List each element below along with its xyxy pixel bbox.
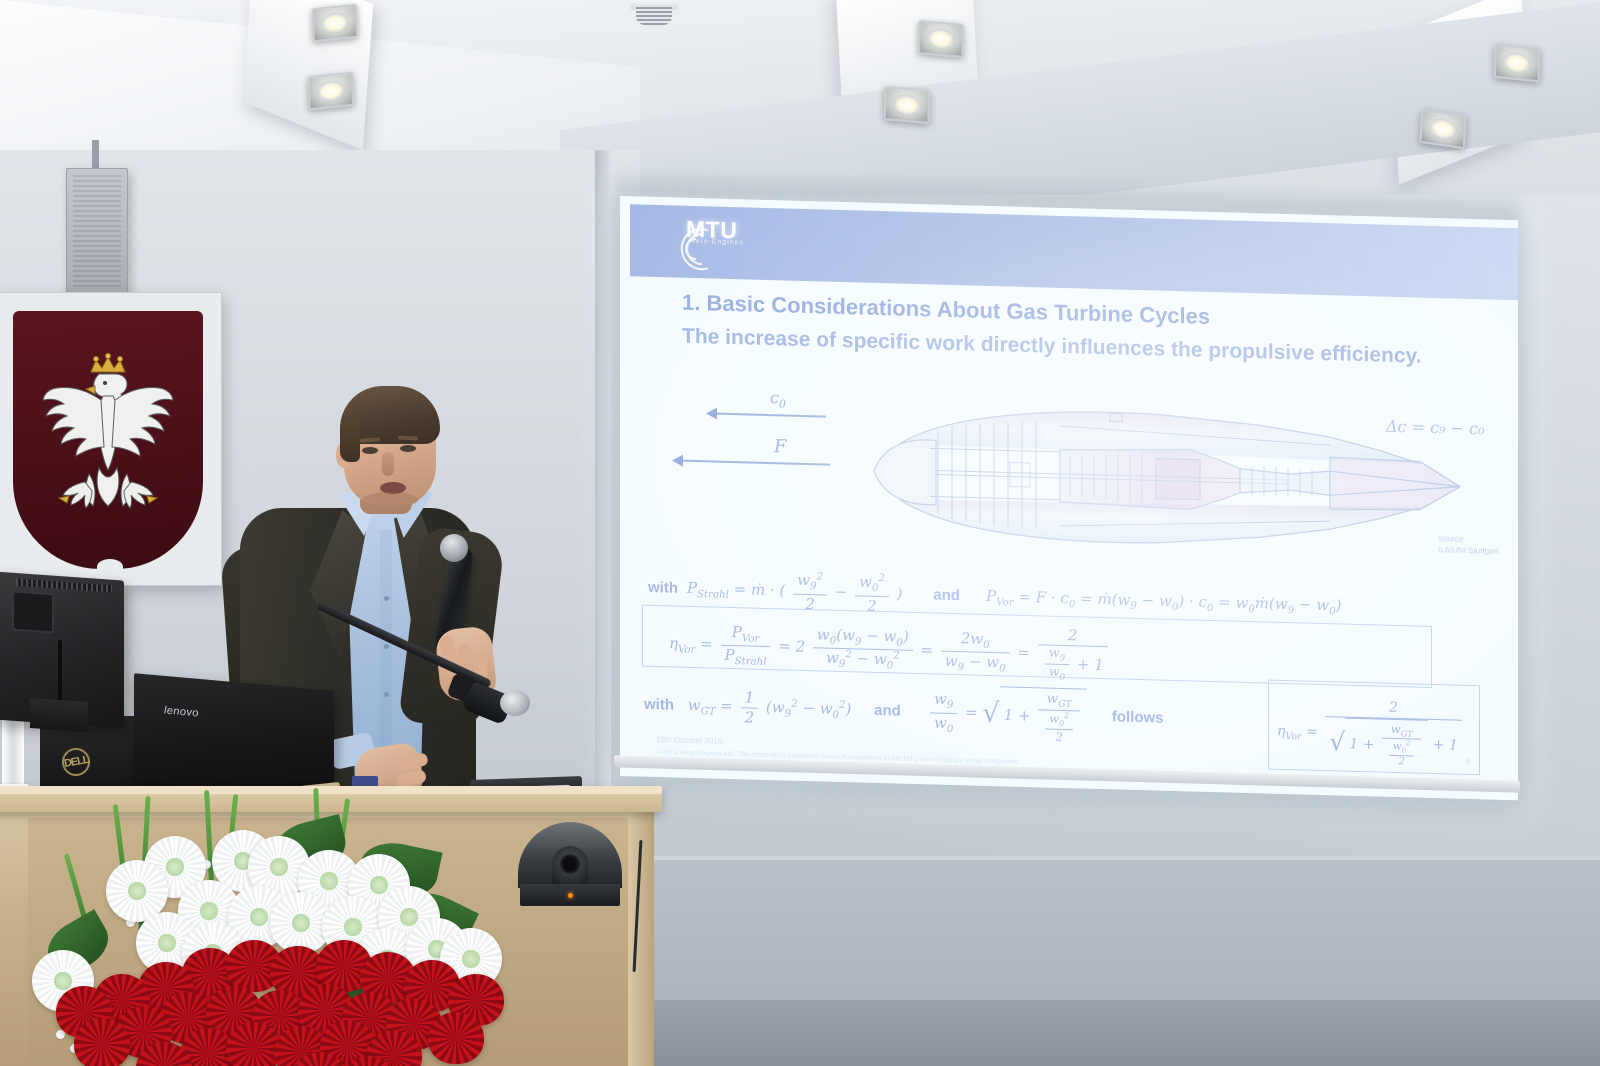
- microphone-windscreen-icon: [500, 690, 530, 716]
- wall-speaker-icon: [66, 168, 128, 296]
- ceiling-spotlight-icon: [884, 86, 930, 124]
- red-carnation: [226, 1022, 282, 1066]
- arrow-shaft: [714, 413, 826, 418]
- ceiling-spotlight-icon: [918, 20, 964, 58]
- arrow-head-icon: [706, 407, 717, 419]
- arrow-shaft: [682, 460, 830, 466]
- and-keyword: and: [933, 587, 960, 605]
- presenter-nose: [382, 452, 394, 476]
- mtu-logo-subtext: Aero Engines: [690, 238, 744, 246]
- red-carnation: [428, 1012, 484, 1064]
- white-eagle-icon: [33, 344, 183, 526]
- presenter-eye: [400, 445, 416, 452]
- ceiling-spotlight-icon: [1494, 44, 1540, 83]
- flower-arrangement: [30, 800, 590, 1066]
- slide-date: 18th October 2018: [656, 735, 722, 746]
- shirt-button: [384, 692, 389, 697]
- heraldic-shield: [13, 311, 203, 569]
- laptop-lid[interactable]: [134, 673, 334, 798]
- projection-screen: MTU Aero Engines 1. Basic Considerations…: [620, 196, 1518, 800]
- with-keyword: with: [648, 579, 678, 597]
- equation-velocity-ratio: w9w0 = √1 + wGTw022: [927, 702, 1092, 724]
- slide-page-number: 8: [1466, 757, 1470, 766]
- equation-p-vor: PVor = F · c0 = ṁ(w9 − w0) · c0 = w0ṁ(w9…: [986, 587, 1341, 615]
- ceiling-spotlight-icon: [308, 72, 355, 111]
- label-inflow-velocity: c0: [770, 388, 786, 411]
- equation-box-eta-vor-final: ηVor = 2 √1 + wGTw022 + 1: [1268, 680, 1480, 776]
- presenter-eye: [362, 447, 378, 454]
- equation-eta-vor-final: ηVor = 2 √1 + wGTw022 + 1: [1269, 681, 1479, 771]
- equation-w-gt: wGT = 12 (w92 − w02): [678, 696, 856, 719]
- engine-diagram: c0 F Δc = c₉ − c₀: [670, 385, 1500, 571]
- smoke-detector-icon: [630, 0, 678, 30]
- podium-right-edge: [628, 792, 654, 1066]
- podium-front-lip: [0, 786, 662, 794]
- presentation-slide: MTU Aero Engines 1. Basic Considerations…: [620, 196, 1518, 800]
- slide-header-bar: MTU Aero Engines: [630, 204, 1518, 300]
- shirt-button: [384, 644, 389, 649]
- presenter-chin: [362, 492, 418, 508]
- presentation-scene: MTU Aero Engines 1. Basic Considerations…: [0, 0, 1600, 1066]
- source-value: ILA/UNI Stuttgart: [1438, 545, 1498, 557]
- arrow-head-icon: [672, 454, 683, 466]
- diagram-source: Source ILA/UNI Stuttgart: [1438, 534, 1498, 557]
- with-keyword-2: with: [644, 696, 674, 714]
- wall-corner: [595, 150, 611, 890]
- monitor-stand: [30, 698, 88, 732]
- shirt-button: [384, 596, 389, 601]
- ceiling-spotlight-icon: [312, 4, 359, 43]
- floor: [590, 1000, 1600, 1066]
- presenter-hair-side: [340, 418, 360, 462]
- label-thrust: F: [774, 436, 787, 457]
- turbofan-cross-section: [860, 380, 1470, 577]
- red-carnation: [74, 1018, 130, 1066]
- ceiling-spotlight-icon: [1419, 109, 1466, 149]
- and-keyword-2: and: [874, 702, 901, 720]
- equation-p-strahl: PStrahl = ṁ · ( w922 − w022 ): [682, 579, 907, 603]
- polish-coat-of-arms: [0, 292, 222, 586]
- follows-keyword: follows: [1112, 708, 1164, 726]
- monitor-vesa-mount: [12, 591, 54, 634]
